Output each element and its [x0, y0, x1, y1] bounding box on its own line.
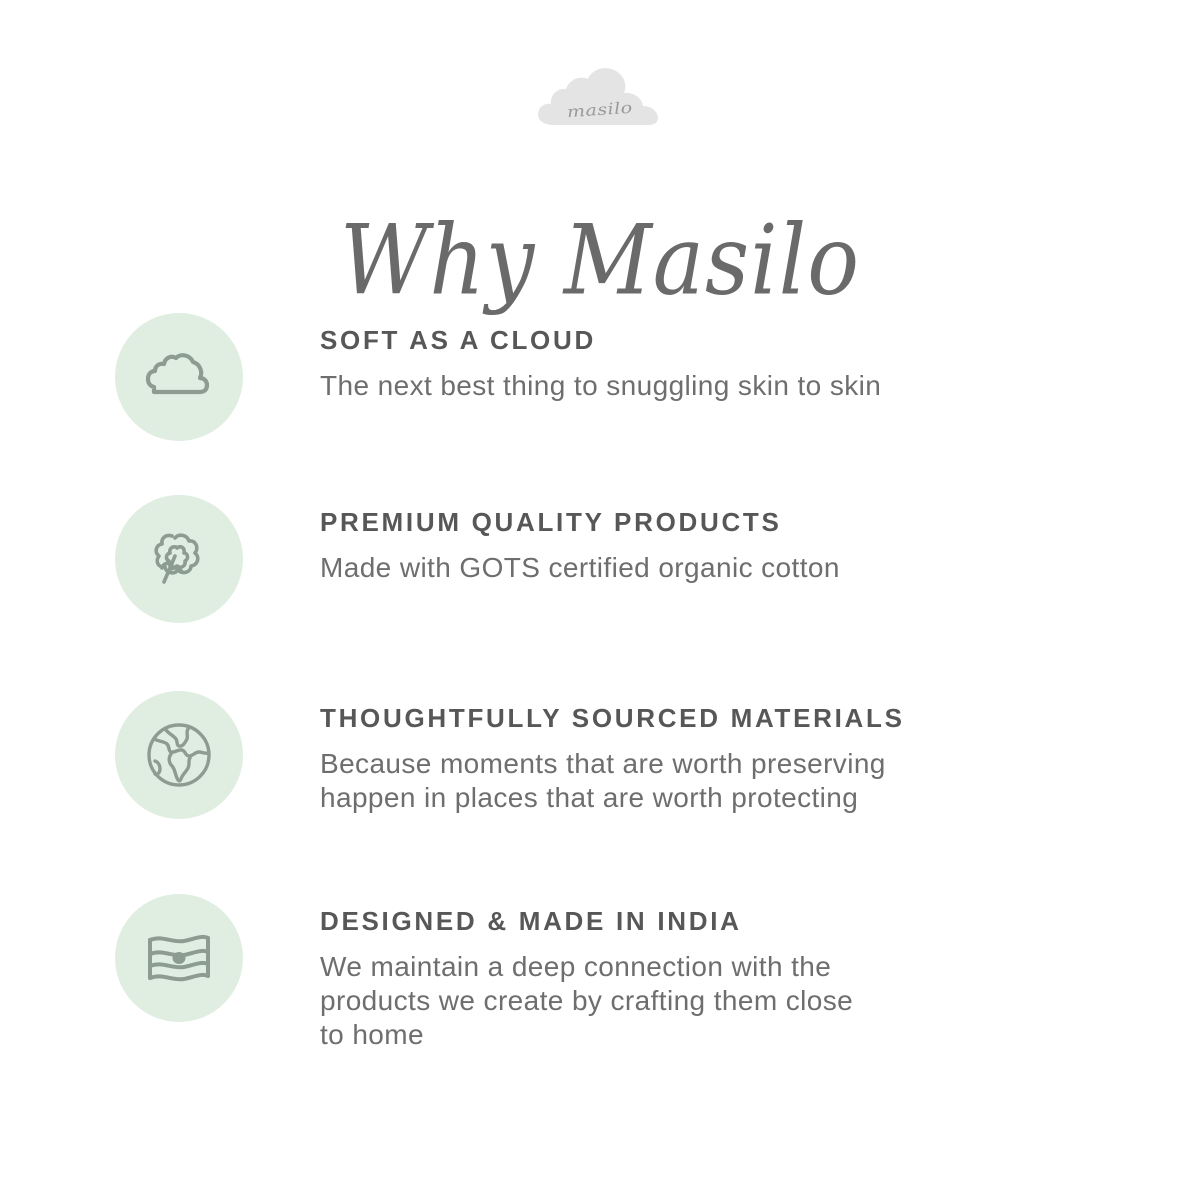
feature-heading: PREMIUM QUALITY PRODUCTS [320, 508, 1200, 537]
feature-icon-badge [115, 495, 243, 623]
feature-body-line: happen in places that are worth protecti… [320, 781, 1090, 815]
feature-body: The next best thing to snuggling skin to… [320, 369, 1090, 403]
feature-icon-badge [115, 313, 243, 441]
cloud-icon [142, 340, 216, 414]
feature-body-line: products we create by crafting them clos… [320, 984, 1090, 1018]
logo-mark: masilo [530, 63, 670, 143]
logo-wordmark-text: masilo [567, 99, 634, 122]
feature-list: SOFT AS A CLOUD The next best thing to s… [0, 300, 1200, 1091]
page-title: Why Masilo [340, 210, 860, 311]
feature-body: Because moments that are worth preservin… [320, 747, 1090, 815]
list-item: THOUGHTFULLY SOURCED MATERIALS Because m… [0, 678, 1200, 881]
logo-wordmark: masilo [530, 63, 670, 143]
feature-text: DESIGNED & MADE IN INDIA We maintain a d… [243, 881, 1200, 1052]
feature-heading: DESIGNED & MADE IN INDIA [320, 907, 1200, 936]
feature-icon-badge [115, 691, 243, 819]
list-item: PREMIUM QUALITY PRODUCTS Made with GOTS … [0, 482, 1200, 678]
feature-heading: THOUGHTFULLY SOURCED MATERIALS [320, 704, 1200, 733]
feature-body-line: Because moments that are worth preservin… [320, 747, 1090, 781]
feature-text: SOFT AS A CLOUD The next best thing to s… [243, 300, 1200, 403]
feature-body-line: The next best thing to snuggling skin to… [320, 369, 1090, 403]
globe-icon [142, 718, 216, 792]
feature-body-line: Made with GOTS certified organic cotton [320, 551, 1090, 585]
feature-body-line: We maintain a deep connection with the [320, 950, 1090, 984]
feature-body-line: to home [320, 1018, 1090, 1052]
brand-logo: masilo [0, 58, 1200, 148]
list-item: SOFT AS A CLOUD The next best thing to s… [0, 300, 1200, 482]
feature-text: THOUGHTFULLY SOURCED MATERIALS Because m… [243, 678, 1200, 815]
feature-body: We maintain a deep connection with the p… [320, 950, 1090, 1052]
cotton-boll-icon [142, 522, 216, 596]
feature-icon-badge [115, 894, 243, 1022]
feature-text: PREMIUM QUALITY PRODUCTS Made with GOTS … [243, 482, 1200, 585]
feature-heading: SOFT AS A CLOUD [320, 326, 1200, 355]
list-item: DESIGNED & MADE IN INDIA We maintain a d… [0, 881, 1200, 1091]
india-flag-icon [142, 921, 216, 995]
feature-body: Made with GOTS certified organic cotton [320, 551, 1090, 585]
